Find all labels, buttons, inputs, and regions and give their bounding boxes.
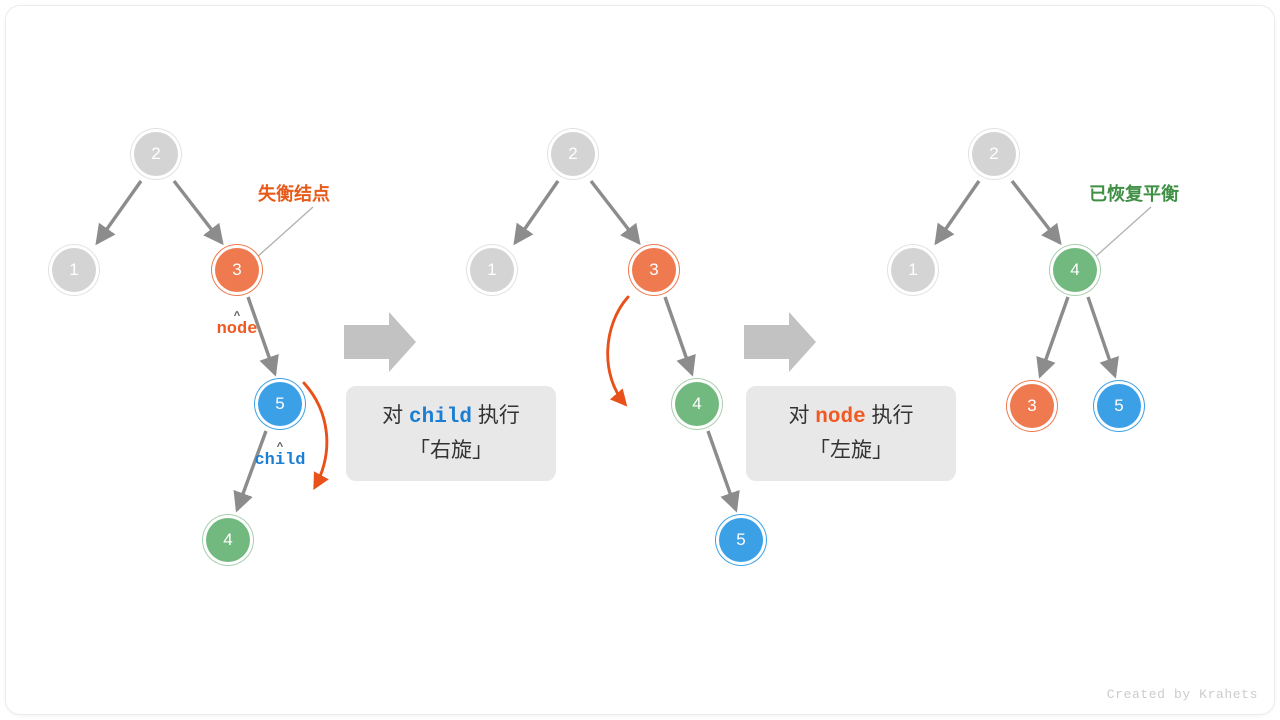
tree-node-3-after[interactable]: 3 xyxy=(1010,384,1054,428)
node-value: 5 xyxy=(1114,397,1123,414)
caret-icon: ^ xyxy=(205,312,269,320)
node-value: 4 xyxy=(692,395,701,412)
annotation-unbalanced-node: 失衡结点 xyxy=(258,180,330,206)
step-line-1: 对 child 执行 xyxy=(368,400,534,435)
tree-node-4[interactable]: 4 xyxy=(206,518,250,562)
node-value: 5 xyxy=(736,531,745,548)
step-suffix: 执行 xyxy=(872,404,914,427)
node-value: 4 xyxy=(223,531,232,548)
node-value: 2 xyxy=(151,145,160,162)
node-value: 1 xyxy=(69,261,78,278)
tree-node-2[interactable]: 2 xyxy=(134,132,178,176)
tree-node-3-unbalanced[interactable]: 3 xyxy=(215,248,259,292)
node-value: 3 xyxy=(649,261,658,278)
tree-node-2-mid[interactable]: 2 xyxy=(551,132,595,176)
figure-canvas: 2 1 3 5 4 失衡结点 ^ node ^ child 对 child 执行… xyxy=(0,0,1280,720)
node-value: 3 xyxy=(1027,397,1036,414)
tree-node-4-mid[interactable]: 4 xyxy=(675,382,719,426)
node-value: 2 xyxy=(989,145,998,162)
node-value: 5 xyxy=(275,395,284,412)
node-value: 4 xyxy=(1070,261,1079,278)
step-suffix: 执行 xyxy=(478,404,520,427)
tree-node-5-after[interactable]: 5 xyxy=(1097,384,1141,428)
step-code-node: node xyxy=(815,406,865,429)
pointer-label-node: ^ node xyxy=(205,312,269,339)
node-value: 3 xyxy=(232,261,241,278)
step-code-child: child xyxy=(409,406,472,429)
tree-node-1[interactable]: 1 xyxy=(52,248,96,292)
figure-card xyxy=(6,6,1274,714)
step-box-right-rotate: 对 child 执行 「右旋」 xyxy=(346,386,556,481)
pointer-label-child: ^ child xyxy=(243,443,317,470)
caret-icon: ^ xyxy=(243,443,317,451)
step-line-2: 「左旋」 xyxy=(768,435,934,468)
step-line-2: 「右旋」 xyxy=(368,435,534,468)
node-value: 1 xyxy=(908,261,917,278)
tree-node-5-mid[interactable]: 5 xyxy=(719,518,763,562)
node-value: 2 xyxy=(568,145,577,162)
step-box-left-rotate: 对 node 执行 「左旋」 xyxy=(746,386,956,481)
tree-node-1-mid[interactable]: 1 xyxy=(470,248,514,292)
tree-node-3-mid[interactable]: 3 xyxy=(632,248,676,292)
annotation-balanced: 已恢复平衡 xyxy=(1089,180,1179,206)
tree-node-4-balanced[interactable]: 4 xyxy=(1053,248,1097,292)
step-prefix: 对 xyxy=(788,404,809,427)
pointer-text: child xyxy=(254,451,305,470)
tree-node-5-child[interactable]: 5 xyxy=(258,382,302,426)
tree-node-2-after[interactable]: 2 xyxy=(972,132,1016,176)
tree-node-1-after[interactable]: 1 xyxy=(891,248,935,292)
credit-text: Created by Krahets xyxy=(1107,687,1258,702)
step-prefix: 对 xyxy=(382,404,403,427)
pointer-text: node xyxy=(217,320,258,339)
step-line-1: 对 node 执行 xyxy=(768,400,934,435)
node-value: 1 xyxy=(487,261,496,278)
